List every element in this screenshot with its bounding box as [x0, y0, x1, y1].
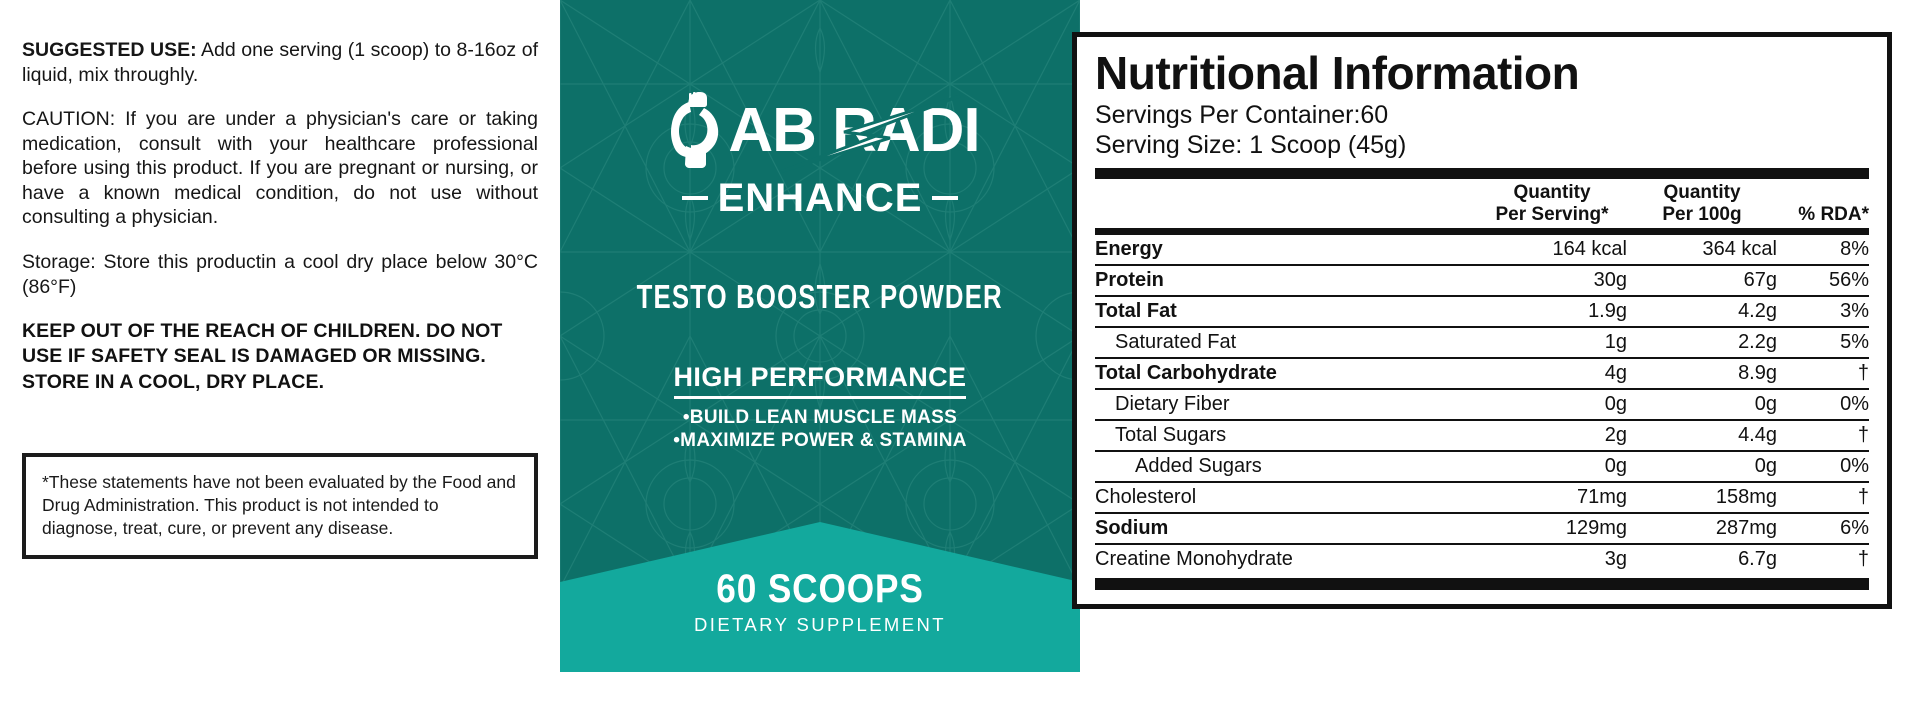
- nutrient-per-serving: 0g: [1477, 451, 1627, 482]
- nutrient-per-100g: 8.9g: [1627, 358, 1777, 389]
- supplement-label-sheet: SUGGESTED USE: Add one serving (1 scoop)…: [0, 0, 1920, 701]
- performance-bullets: •BUILD LEAN MUSCLE MASS •MAXIMIZE POWER …: [673, 406, 967, 452]
- nutrient-per-100g: 0g: [1627, 451, 1777, 482]
- table-row: Total Fat1.9g4.2g3%: [1095, 296, 1869, 327]
- nutrition-values-body: Energy164 kcal364 kcal8%Protein30g67g56%…: [1095, 235, 1869, 574]
- suggested-use-block: SUGGESTED USE: Add one serving (1 scoop)…: [22, 38, 538, 87]
- scoops-count: 60 SCOOPS: [591, 567, 1049, 612]
- product-type: TESTO BOOSTER POWDER: [637, 278, 1003, 316]
- nutrient-per-serving: 164 kcal: [1477, 235, 1627, 265]
- divider-medium: [1095, 228, 1869, 235]
- nutrition-facts-box: Nutritional Information Servings Per Con…: [1072, 32, 1892, 609]
- nutrient-rda: 0%: [1777, 451, 1869, 482]
- nutrient-per-serving: 4g: [1477, 358, 1627, 389]
- bullet-build-lean-muscle: •BUILD LEAN MUSCLE MASS: [673, 406, 967, 429]
- table-row: Energy164 kcal364 kcal8%: [1095, 235, 1869, 265]
- suggested-use-label: SUGGESTED USE:: [22, 39, 197, 61]
- header-q100-line2: Per 100g: [1662, 204, 1741, 225]
- nutrient-per-serving: 1g: [1477, 327, 1627, 358]
- nutrient-rda: 5%: [1777, 327, 1869, 358]
- bullet-maximize-power: •MAXIMIZE POWER & STAMINA: [673, 429, 967, 452]
- nutrient-per-serving: 1.9g: [1477, 296, 1627, 327]
- table-row: Sodium129mg287mg6%: [1095, 513, 1869, 544]
- header-rda: % RDA*: [1777, 179, 1869, 228]
- nutrient-name: Total Fat: [1095, 296, 1477, 327]
- servings-per-container-value: 60: [1360, 101, 1388, 129]
- nutrient-per-serving: 2g: [1477, 420, 1627, 451]
- nutrient-name: Cholesterol: [1095, 482, 1477, 513]
- dietary-supplement-label: DIETARY SUPPLEMENT: [560, 614, 1080, 636]
- servings-per-container-label: Servings Per Container:: [1095, 101, 1360, 129]
- nutrition-title: Nutritional Information: [1095, 49, 1869, 97]
- table-row: Total Carbohydrate4g8.9g†: [1095, 358, 1869, 389]
- nutrient-per-100g: 287mg: [1627, 513, 1777, 544]
- serving-size-label: Serving Size: 1 Scoop (45g): [1095, 131, 1869, 161]
- nutrient-rda: 56%: [1777, 265, 1869, 296]
- table-row: Cholesterol71mg158mg†: [1095, 482, 1869, 513]
- nutrient-name: Sodium: [1095, 513, 1477, 544]
- performance-block: HIGH PERFORMANCE •BUILD LEAN MUSCLE MASS…: [673, 362, 967, 452]
- table-row: Total Sugars2g4.4g†: [1095, 420, 1869, 451]
- nutrition-values-table: Energy164 kcal364 kcal8%Protein30g67g56%…: [1095, 235, 1869, 574]
- nutrient-per-serving: 3g: [1477, 544, 1627, 574]
- flexed-arm-icon: [660, 88, 726, 168]
- suggested-use-paragraph: SUGGESTED USE: Add one serving (1 scoop)…: [22, 38, 538, 87]
- dash-right-decoration: [932, 196, 958, 200]
- nutrient-per-100g: 0g: [1627, 389, 1777, 420]
- lightning-bolt-icon: [764, 94, 964, 174]
- table-row: Creatine Monohydrate3g6.7g†: [1095, 544, 1869, 574]
- divider-thick-bottom: [1095, 578, 1869, 590]
- nutrient-per-100g: 6.7g: [1627, 544, 1777, 574]
- nutrition-table-header-row: Quantity Per Serving* Quantity Per 100g …: [1095, 179, 1869, 228]
- center-content: AB RADI ENHANCE TESTO BOOSTER POWDER HIG…: [560, 0, 1080, 672]
- servings-per-container-row: Servings Per Container:60: [1095, 101, 1869, 131]
- warning-block: KEEP OUT OF THE REACH OF CHILDREN. DO NO…: [22, 319, 538, 395]
- nutrient-rda: †: [1777, 544, 1869, 574]
- warning-paragraph: KEEP OUT OF THE REACH OF CHILDREN. DO NO…: [22, 319, 538, 395]
- header-q100-line1: Quantity: [1663, 182, 1740, 203]
- center-brand-panel: AB RADI ENHANCE TESTO BOOSTER POWDER HIG…: [560, 0, 1080, 672]
- nutrient-per-100g: 2.2g: [1627, 327, 1777, 358]
- performance-title: HIGH PERFORMANCE: [674, 362, 967, 399]
- brand-sub-row: ENHANCE: [682, 178, 959, 218]
- nutrient-rda: 0%: [1777, 389, 1869, 420]
- nutrient-name: Added Sugars: [1095, 451, 1477, 482]
- brand-lockup: AB RADI: [660, 88, 979, 174]
- nutrient-per-100g: 4.2g: [1627, 296, 1777, 327]
- nutrient-per-100g: 364 kcal: [1627, 235, 1777, 265]
- nutrient-rda: †: [1777, 482, 1869, 513]
- table-row: Added Sugars0g0g0%: [1095, 451, 1869, 482]
- storage-block: Storage: Store this productin a cool dry…: [22, 250, 538, 299]
- nutrient-name: Creatine Monohydrate: [1095, 544, 1477, 574]
- nutrient-per-serving: 129mg: [1477, 513, 1627, 544]
- divider-thick-top: [1095, 168, 1869, 179]
- table-row: Saturated Fat1g2.2g5%: [1095, 327, 1869, 358]
- table-row: Dietary Fiber0g0g0%: [1095, 389, 1869, 420]
- nutrient-rda: 3%: [1777, 296, 1869, 327]
- brand-sub: ENHANCE: [718, 178, 923, 218]
- nutrient-rda: 8%: [1777, 235, 1869, 265]
- header-quantity-per-serving: Quantity Per Serving*: [1477, 179, 1627, 228]
- nutrient-name: Total Sugars: [1095, 420, 1477, 451]
- nutrient-per-100g: 158mg: [1627, 482, 1777, 513]
- table-row: Protein30g67g56%: [1095, 265, 1869, 296]
- fda-disclaimer-text: *These statements have not been evaluate…: [42, 471, 518, 540]
- header-blank: [1095, 179, 1477, 228]
- scoops-block: 60 SCOOPS DIETARY SUPPLEMENT: [560, 567, 1080, 636]
- nutrient-per-serving: 0g: [1477, 389, 1627, 420]
- nutrient-per-serving: 71mg: [1477, 482, 1627, 513]
- nutrient-name: Protein: [1095, 265, 1477, 296]
- nutrient-per-100g: 67g: [1627, 265, 1777, 296]
- nutrient-name: Dietary Fiber: [1095, 389, 1477, 420]
- nutrient-name: Total Carbohydrate: [1095, 358, 1477, 389]
- dash-left-decoration: [682, 196, 708, 200]
- nutrition-table-body: Quantity Per Serving* Quantity Per 100g …: [1095, 179, 1869, 228]
- nutrition-panel: Nutritional Information Servings Per Con…: [1072, 32, 1892, 609]
- caution-block: CAUTION: If you are under a physician's …: [22, 107, 538, 230]
- nutrient-name: Saturated Fat: [1095, 327, 1477, 358]
- nutrient-per-100g: 4.4g: [1627, 420, 1777, 451]
- header-quantity-per-100g: Quantity Per 100g: [1627, 179, 1777, 228]
- nutrient-per-serving: 30g: [1477, 265, 1627, 296]
- header-qps-line2: Per Serving*: [1496, 204, 1609, 225]
- caution-paragraph: CAUTION: If you are under a physician's …: [22, 107, 538, 230]
- nutrient-rda: †: [1777, 420, 1869, 451]
- nutrient-name: Energy: [1095, 235, 1477, 265]
- nutrient-rda: 6%: [1777, 513, 1869, 544]
- nutrition-table: Quantity Per Serving* Quantity Per 100g …: [1095, 179, 1869, 228]
- header-qps-line1: Quantity: [1513, 182, 1590, 203]
- fda-disclaimer-box: *These statements have not been evaluate…: [22, 453, 538, 559]
- left-info-panel: SUGGESTED USE: Add one serving (1 scoop)…: [0, 0, 560, 701]
- storage-paragraph: Storage: Store this productin a cool dry…: [22, 250, 538, 299]
- nutrient-rda: †: [1777, 358, 1869, 389]
